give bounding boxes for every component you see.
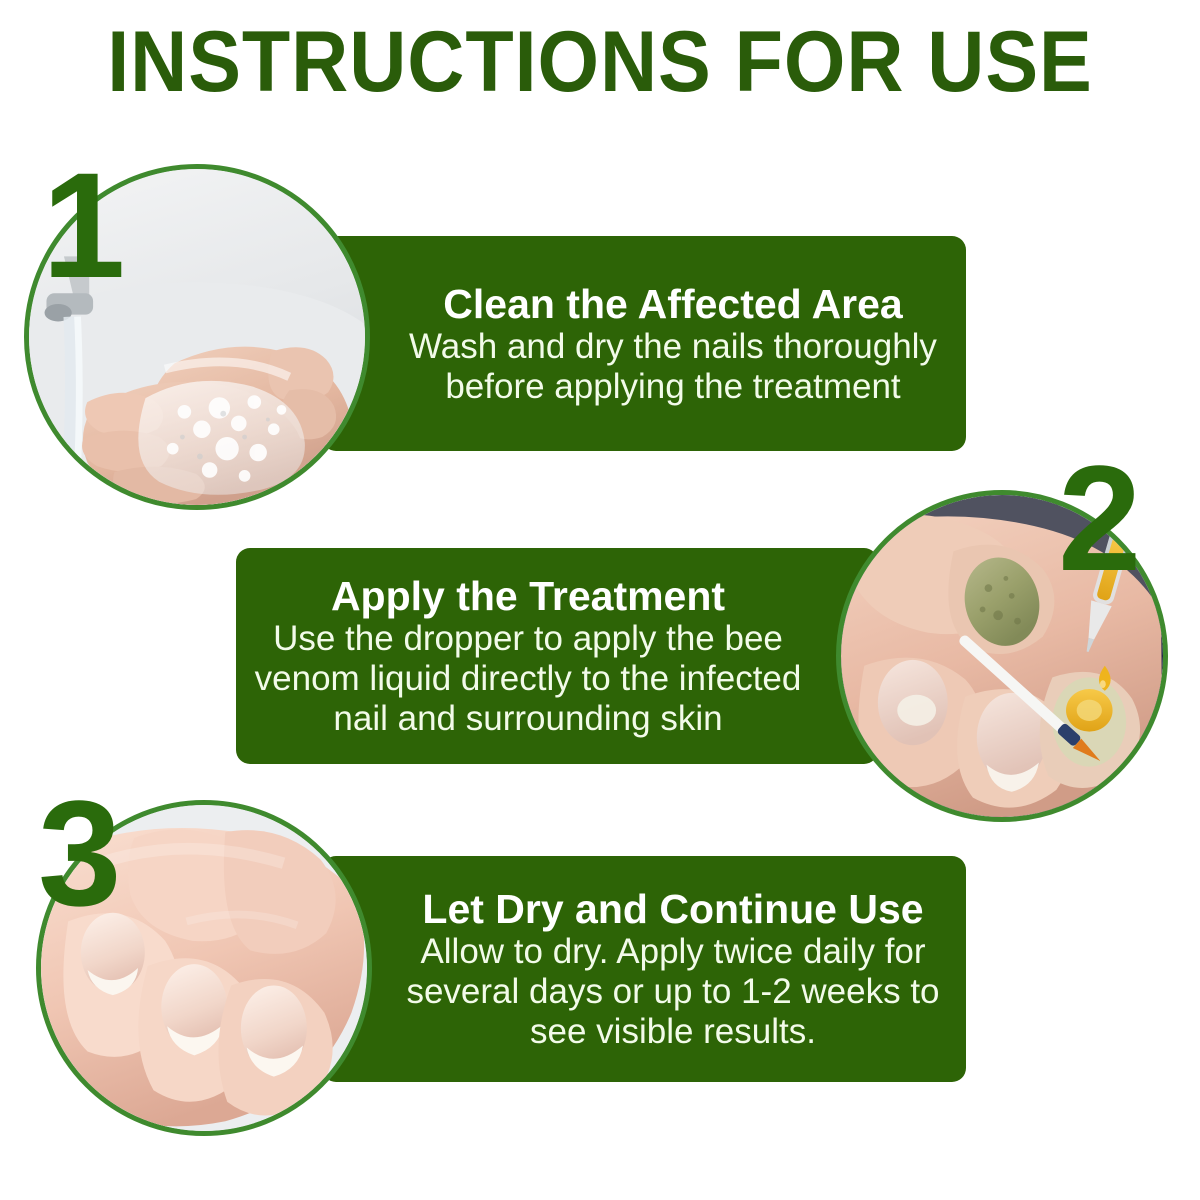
step-2-body: Use the dropper to apply the bee venom l… [255,619,802,739]
step-3-body: Allow to dry. Apply twice daily for seve… [406,932,939,1052]
step-number-2: 2 [1058,443,1141,593]
step-2-heading: Apply the Treatment [331,573,725,619]
step-1-body: Wash and dry the nails thoroughly before… [409,327,937,407]
step-3-body-line-2: several days or up to 1-2 weeks to [406,972,939,1012]
step-1-body-line-1: Wash and dry the nails thoroughly [409,327,937,367]
step-card-1: Clean the Affected Area Wash and dry the… [322,236,966,451]
step-2-body-line-3: nail and surrounding skin [255,699,802,739]
instructions-infographic: INSTRUCTIONS FOR USE Clean the Affected … [0,0,1200,1200]
step-2-body-line-2: venom liquid directly to the infected [255,659,802,699]
step-1-heading: Clean the Affected Area [443,281,902,327]
step-number-1: 1 [42,150,125,300]
step-card-3: Let Dry and Continue Use Allow to dry. A… [322,856,966,1082]
step-1-body-line-2: before applying the treatment [409,367,937,407]
step-3-body-line-1: Allow to dry. Apply twice daily for [406,932,939,972]
step-3-body-line-3: see visible results. [406,1012,939,1052]
step-number-3: 3 [38,778,121,928]
step-3-heading: Let Dry and Continue Use [422,886,923,932]
step-2-body-line-1: Use the dropper to apply the bee [255,619,802,659]
step-card-2: Apply the Treatment Use the dropper to a… [236,548,878,764]
page-title: INSTRUCTIONS FOR USE [48,14,1152,110]
